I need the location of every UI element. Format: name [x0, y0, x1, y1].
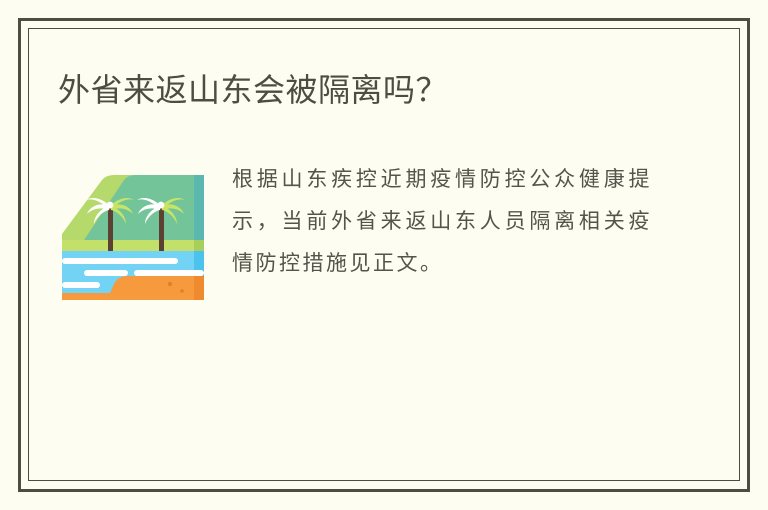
beach-island-illustration-icon [62, 144, 210, 300]
page-title: 外省来返山东会被隔离吗？ [58, 68, 698, 112]
article-body-text: 根据山东疾控近期疫情防控公众健康提示，当前外省来返山东人员隔离相关疫情防控措施见… [232, 158, 652, 284]
article-card-page: 外省来返山东会被隔离吗？ [0, 0, 768, 510]
